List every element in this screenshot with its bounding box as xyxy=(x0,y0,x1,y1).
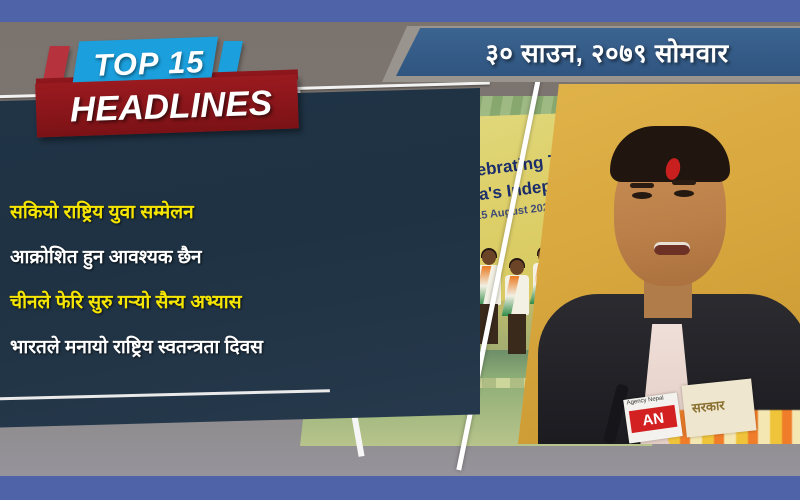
headlines-label: HEADLINES xyxy=(45,78,297,137)
eyebrow-right xyxy=(672,180,696,185)
headline-list: सकियो राष्ट्रिय युवा सम्मेलन आक्रोशित हु… xyxy=(10,188,410,368)
top-color-band xyxy=(0,0,800,22)
microphone-flag-an: Agency Nepal AN xyxy=(623,392,683,443)
microphone-flag-2: सरकार xyxy=(681,378,756,437)
eye-left xyxy=(632,192,652,199)
headline-item-2[interactable]: आक्रोशित हुन आवश्यक छैन xyxy=(10,233,410,278)
headline-item-1[interactable]: सकियो राष्ट्रिय युवा सम्मेलन xyxy=(10,188,410,233)
headline-item-3[interactable]: चीनले फेरि सुरु गर्‍यो सैन्य अभ्यास xyxy=(10,278,410,323)
date-ribbon: ३० साउन, २०७९ सोमवार xyxy=(396,28,800,76)
mic2-label: सरकार xyxy=(691,395,725,416)
top-15-headlines-logo: TOP 15 HEADLINES xyxy=(38,36,308,136)
bottom-color-band xyxy=(0,476,800,500)
news-headline-graphic: Celebrating 75 y of India's Independ 15 … xyxy=(0,0,800,500)
eye-right xyxy=(674,190,694,197)
date-text: ३० साउन, २०७९ सोमवार xyxy=(467,34,728,70)
headline-item-4[interactable]: भारतले मनायो राष्ट्रिय स्वतन्त्रता दिवस xyxy=(10,323,410,368)
mic-label: AN xyxy=(629,405,678,433)
child-performer xyxy=(504,260,530,356)
mouth xyxy=(654,242,690,255)
photo-man-speaking-at-mics: Agency Nepal AN सरकार xyxy=(518,84,800,444)
eyebrow-left xyxy=(630,183,654,188)
